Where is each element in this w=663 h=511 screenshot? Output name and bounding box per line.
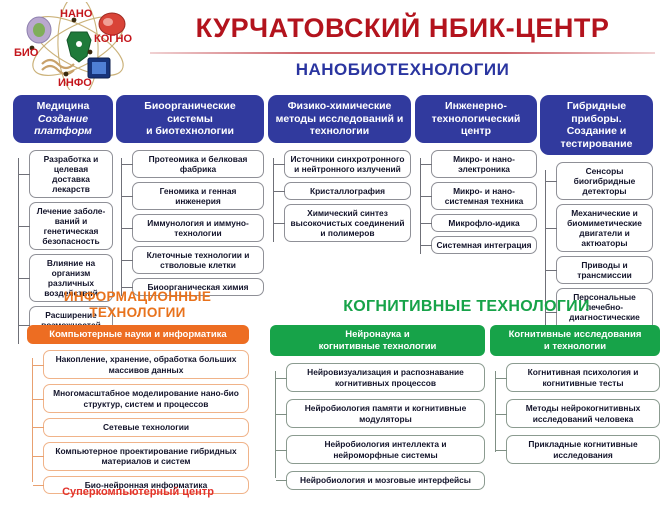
- column-header-line1: Нейронаука и: [319, 329, 437, 341]
- section-title-nanobio: НАНОБИОТЕХНОЛОГИИ: [150, 60, 655, 80]
- column-header-line2: технологический: [432, 113, 521, 126]
- nanobio-column-engineering: Инженерно- технологический центр Микро- …: [415, 95, 537, 258]
- column-header-line1: Биоорганические системы: [120, 100, 260, 125]
- list-item[interactable]: Микро- и нано-системная техника: [431, 182, 537, 210]
- logo-label-info: ИНФО: [58, 77, 92, 89]
- list-item[interactable]: Кристаллография: [284, 182, 411, 200]
- list-item[interactable]: Прикладные когнитивные исследования: [506, 435, 660, 464]
- list-item[interactable]: Химический синтез высокочистых соединени…: [284, 204, 411, 242]
- list-item[interactable]: Методы нейрокогнитивных исследований чел…: [506, 399, 660, 428]
- column-header[interactable]: Нейронаука и когнитивные технологии: [270, 325, 485, 356]
- it-section-footer: Суперкомпьютерный центр: [27, 486, 249, 498]
- nbic-atom-logo: НАНО КОГНО БИО ИНФО: [14, 2, 142, 90]
- page-title: КУРЧАТОВСКИЙ НБИК-ЦЕНТР: [150, 12, 655, 44]
- column-header-line2: методы исследований и: [276, 113, 404, 126]
- list-item[interactable]: Нейробиология и мозговые интерфейсы: [286, 471, 485, 490]
- column-header-line2: Создание: [34, 113, 92, 126]
- it-block: Компьютерные науки и информатика Накопле…: [27, 325, 249, 499]
- list-item[interactable]: Нейробиология интеллекта и нейроморфные …: [286, 435, 485, 464]
- column-header-line2: когнитивные технологии: [319, 341, 437, 353]
- poster-header: НАНО КОГНО БИО ИНФО КУРЧАТОВСКИЙ НБИК-ЦЕ…: [0, 0, 663, 92]
- list-item[interactable]: Клеточные технологии и стволовые клетки: [132, 246, 264, 274]
- column-header-line2: и биотехнологии: [120, 125, 260, 138]
- section-title-cognitive: КОГНИТИВНЫЕ ТЕХНОЛОГИИ: [270, 297, 663, 316]
- list-item[interactable]: Микро- и нано- электроника: [431, 150, 537, 178]
- list-item[interactable]: Накопление, хранение, обработка больших …: [43, 350, 249, 379]
- list-item[interactable]: Иммунология и иммуно-технологии: [132, 214, 264, 242]
- list-item[interactable]: Микрофло-идика: [431, 214, 537, 232]
- column-header-line3: технологии: [276, 125, 404, 138]
- column-header[interactable]: Когнитивные исследования и технологии: [490, 325, 660, 356]
- column-header[interactable]: Гибридные приборы. Создание и тестирован…: [540, 95, 653, 155]
- column-header-line1: Медицина: [34, 100, 92, 113]
- list-item[interactable]: Компьютерное проектирование гибридных ма…: [43, 442, 249, 471]
- list-item[interactable]: Приводы и трансмиссии: [556, 256, 653, 284]
- logo-label-kogno: КОГНО: [94, 33, 132, 45]
- column-header-line1: Когнитивные исследования: [509, 329, 642, 341]
- column-header-line1: Гибридные приборы.: [544, 100, 649, 125]
- nanobio-column-physchem: Физико-химические методы исследований и …: [268, 95, 411, 246]
- column-items: Микро- и нано- электроника Микро- и нано…: [415, 150, 537, 254]
- column-header[interactable]: Медицина Создание платформ: [13, 95, 113, 143]
- cognitive-column-research: Когнитивные исследования и технологии Ко…: [490, 325, 660, 471]
- list-item[interactable]: Механические и биомиметические двигатели…: [556, 204, 653, 252]
- column-header[interactable]: Инженерно- технологический центр: [415, 95, 537, 143]
- list-item[interactable]: Нейробиология памяти и когнитивные модул…: [286, 399, 485, 428]
- column-items: Протеомика и белковая фабрика Геномика и…: [116, 150, 264, 296]
- it-items: Накопление, хранение, обработка больших …: [27, 350, 249, 494]
- nanobio-grid: Медицина Создание платформ Разработка и …: [0, 95, 663, 285]
- cognitive-column-neuroscience: Нейронаука и когнитивные технологии Нейр…: [270, 325, 485, 497]
- column-items: Источники синхротронного и нейтронного и…: [268, 150, 411, 242]
- column-header-line1: Физико-химические: [276, 100, 404, 113]
- column-header[interactable]: Физико-химические методы исследований и …: [268, 95, 411, 143]
- poster-root: НАНО КОГНО БИО ИНФО КУРЧАТОВСКИЙ НБИК-ЦЕ…: [0, 0, 663, 511]
- list-item[interactable]: Когнитивная психология и когнитивные тес…: [506, 363, 660, 392]
- it-block-header[interactable]: Компьютерные науки и информатика: [27, 325, 249, 344]
- list-item[interactable]: Сенсоры биогибридные детекторы: [556, 162, 653, 200]
- list-item[interactable]: Многомасштабное моделирование нано-био с…: [43, 384, 249, 413]
- list-item[interactable]: Протеомика и белковая фабрика: [132, 150, 264, 178]
- section-title-it: ИНФОРМАЦИОННЫЕ ТЕХНОЛОГИИ: [20, 289, 255, 321]
- column-header-line2: и технологии: [509, 341, 642, 353]
- column-header-line2: Создание и: [544, 125, 649, 138]
- list-item[interactable]: Нейровизуализация и распознавание когнит…: [286, 363, 485, 392]
- logo-label-bio: БИО: [14, 47, 39, 59]
- column-header-line3: платформ: [34, 125, 92, 138]
- column-items: Нейровизуализация и распознавание когнит…: [270, 363, 485, 490]
- atom-logo-graphic: НАНО КОГНО БИО ИНФО: [14, 2, 142, 90]
- column-header-line3: тестирование: [544, 138, 649, 151]
- list-item[interactable]: Сетевые технологии: [43, 418, 249, 437]
- column-header[interactable]: Биоорганические системы и биотехнологии: [116, 95, 264, 143]
- logo-label-nano: НАНО: [60, 8, 93, 20]
- title-divider: [150, 52, 655, 54]
- column-items: Когнитивная психология и когнитивные тес…: [490, 363, 660, 464]
- list-item[interactable]: Источники синхротронного и нейтронного и…: [284, 150, 411, 178]
- list-item[interactable]: Лечение заболе-ваний и генетическая безо…: [29, 202, 113, 250]
- list-item[interactable]: Разработка и целевая доставка лекарств: [29, 150, 113, 198]
- list-item[interactable]: Системная интеграция: [431, 236, 537, 254]
- column-header-line1: Инженерно-: [432, 100, 521, 113]
- column-header-line3: центр: [432, 125, 521, 138]
- list-item[interactable]: Геномика и генная инженерия: [132, 182, 264, 210]
- nanobio-column-bioorganic: Биоорганические системы и биотехнологии …: [116, 95, 264, 300]
